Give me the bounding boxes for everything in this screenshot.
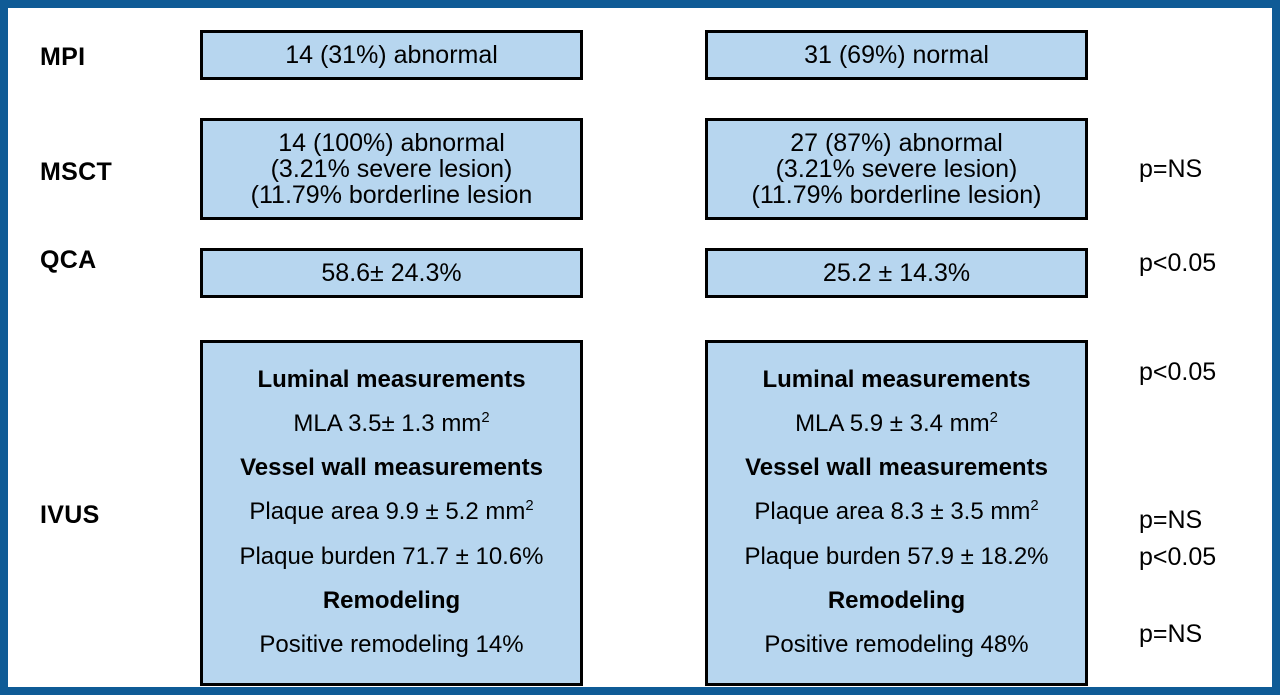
ivus-right-remodeling-heading: Remodeling <box>828 589 965 614</box>
cell-msct-right-line-1: 27 (87%) abnormal <box>790 130 1003 156</box>
cell-qca-right: 25.2 ± 14.3% <box>705 248 1088 298</box>
cell-mpi-left-line-1: 14 (31%) abnormal <box>285 42 498 68</box>
ivus-left-remodeling-heading: Remodeling <box>323 589 460 614</box>
ivus-right-mla-text: MLA 5.9 ± 3.4 mm <box>795 410 990 437</box>
cell-qca-left-line-1: 58.6± 24.3% <box>321 260 461 286</box>
cell-ivus-right: Luminal measurements MLA 5.9 ± 3.4 mm2 V… <box>705 340 1088 686</box>
ivus-right-positive-remodeling: Positive remodeling 48% <box>764 633 1028 658</box>
pvalue-ivus-remodeling: p=NS <box>1139 622 1202 647</box>
ivus-right-mla: MLA 5.9 ± 3.4 mm2 <box>795 412 998 437</box>
ivus-left-positive-remodeling: Positive remodeling 14% <box>259 633 523 658</box>
slide-frame: MPI 14 (31%) abnormal 31 (69%) normal MS… <box>0 0 1280 695</box>
cell-msct-right: 27 (87%) abnormal (3.21% severe lesion) … <box>705 118 1088 220</box>
ivus-left-vessel-heading: Vessel wall measurements <box>240 456 543 481</box>
ivus-right-vessel-heading: Vessel wall measurements <box>745 456 1048 481</box>
pvalue-ivus-plaque-burden: p<0.05 <box>1139 545 1216 570</box>
pvalue-ivus-luminal: p<0.05 <box>1139 360 1216 385</box>
ivus-left-luminal-heading: Luminal measurements <box>257 368 525 393</box>
cell-msct-right-line-2: (3.21% severe lesion) <box>776 156 1018 182</box>
row-label-qca: QCA <box>40 248 96 273</box>
row-label-ivus: IVUS <box>40 503 100 528</box>
cell-mpi-right-line-1: 31 (69%) normal <box>804 42 989 68</box>
ivus-right-plaque-area-superscript: 2 <box>1030 498 1038 514</box>
ivus-right-plaque-area-text: Plaque area 8.3 ± 3.5 mm <box>754 498 1030 525</box>
ivus-left-mla-text: MLA 3.5± 1.3 mm <box>293 410 481 437</box>
cell-mpi-right: 31 (69%) normal <box>705 30 1088 80</box>
ivus-left-plaque-area-text: Plaque area 9.9 ± 5.2 mm <box>249 498 525 525</box>
ivus-left-plaque-burden: Plaque burden 71.7 ± 10.6% <box>239 545 543 570</box>
cell-msct-left: 14 (100%) abnormal (3.21% severe lesion)… <box>200 118 583 220</box>
ivus-right-luminal-heading: Luminal measurements <box>762 368 1030 393</box>
pvalue-qca: p<0.05 <box>1139 251 1216 276</box>
row-label-mpi: MPI <box>40 45 85 70</box>
cell-msct-right-line-3: (11.79% borderline lesion) <box>752 182 1042 208</box>
ivus-left-plaque-area-superscript: 2 <box>525 498 533 514</box>
cell-msct-left-line-1: 14 (100%) abnormal <box>278 130 505 156</box>
ivus-left-mla-superscript: 2 <box>481 410 489 426</box>
comparison-table: MPI 14 (31%) abnormal 31 (69%) normal MS… <box>8 8 1272 687</box>
cell-ivus-left: Luminal measurements MLA 3.5± 1.3 mm2 Ve… <box>200 340 583 686</box>
ivus-right-mla-superscript: 2 <box>990 410 998 426</box>
ivus-left-mla: MLA 3.5± 1.3 mm2 <box>293 412 489 437</box>
pvalue-ivus-plaque-area: p=NS <box>1139 508 1202 533</box>
ivus-right-plaque-area: Plaque area 8.3 ± 3.5 mm2 <box>754 500 1038 525</box>
ivus-left-plaque-area: Plaque area 9.9 ± 5.2 mm2 <box>249 500 533 525</box>
row-label-msct: MSCT <box>40 160 112 185</box>
cell-qca-left: 58.6± 24.3% <box>200 248 583 298</box>
cell-msct-left-line-2: (3.21% severe lesion) <box>271 156 513 182</box>
ivus-right-plaque-burden: Plaque burden 57.9 ± 18.2% <box>744 545 1048 570</box>
cell-mpi-left: 14 (31%) abnormal <box>200 30 583 80</box>
cell-qca-right-line-1: 25.2 ± 14.3% <box>823 260 970 286</box>
pvalue-msct: p=NS <box>1139 157 1202 182</box>
cell-msct-left-line-3: (11.79% borderline lesion <box>251 182 533 208</box>
